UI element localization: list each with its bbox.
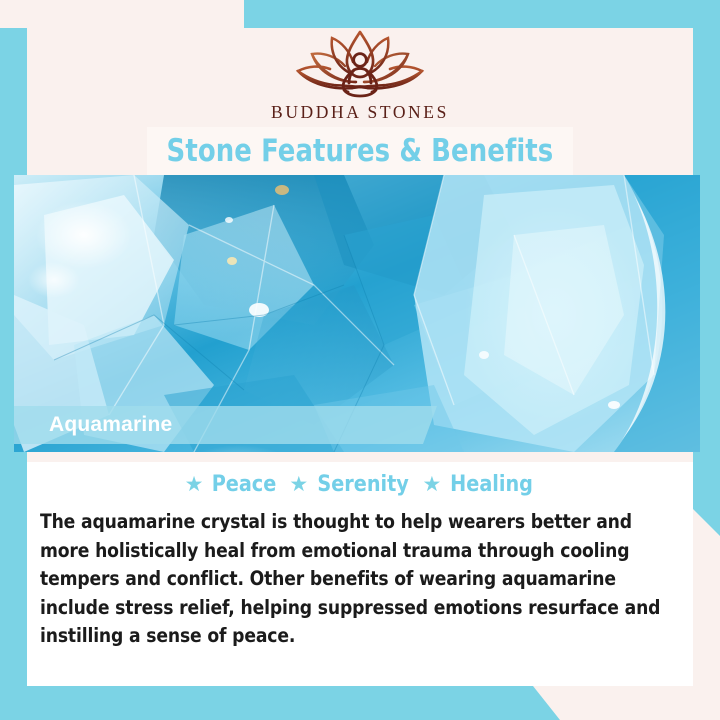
- page-title: Stone Features & Benefits: [167, 133, 554, 169]
- lotus-meditation-icon: [284, 24, 436, 98]
- frame-accent-bottom: [0, 686, 720, 720]
- stone-name: Aquamarine: [49, 413, 172, 437]
- star-icon: ★: [185, 474, 204, 495]
- stone-benefits-infographic: BUDDHA STONES Stone Features & Benefits: [0, 0, 720, 720]
- keyword-label: Peace: [212, 471, 277, 497]
- star-icon: ★: [422, 474, 441, 495]
- keyword-row: ★ Peace ★ Serenity ★ Healing: [27, 462, 693, 497]
- brand-wordmark: BUDDHA STONES: [27, 102, 693, 123]
- keyword-healing: ★ Healing: [422, 471, 535, 497]
- content-panel: ★ Peace ★ Serenity ★ Healing The aquamar…: [27, 462, 693, 686]
- brand-logo: BUDDHA STONES: [27, 24, 693, 123]
- keyword-label: Serenity: [318, 471, 409, 497]
- description-paragraph: The aquamarine crystal is thought to hel…: [40, 508, 672, 651]
- stone-name-band: Aquamarine: [14, 406, 437, 444]
- star-icon: ★: [289, 474, 308, 495]
- keyword-label: Healing: [450, 471, 533, 497]
- title-banner: Stone Features & Benefits: [147, 127, 573, 175]
- keyword-serenity: ★ Serenity: [289, 471, 411, 497]
- keyword-peace: ★ Peace: [185, 471, 279, 497]
